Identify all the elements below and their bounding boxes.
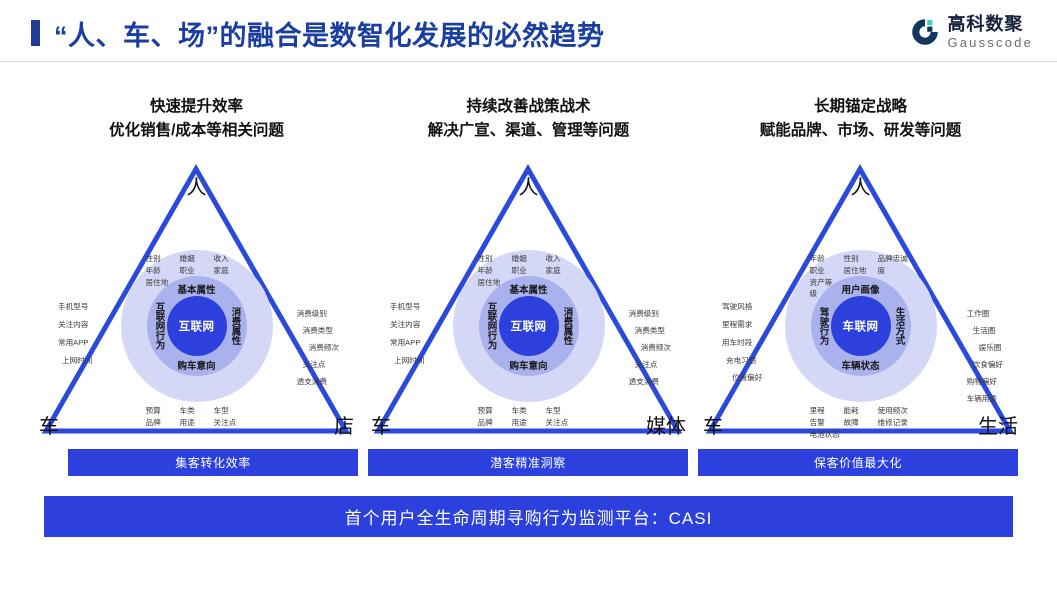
- attr-group-right-2: 消费级别消费类型消费频次关注点透支消费: [629, 305, 671, 390]
- brand-logo: 高科数聚 Gausscode: [910, 12, 1033, 52]
- attr-item: 工作圈: [967, 305, 1003, 322]
- caption-bar-2: 潜客精准洞察: [368, 449, 688, 476]
- attr-item: 品牌: [146, 417, 180, 429]
- ring-mid-label-right-2: 消费属性: [560, 307, 574, 345]
- attr-row: 居住地: [146, 277, 248, 289]
- attr-item: 收入: [214, 253, 248, 265]
- column-1-heading-line1: 快速提升效率: [38, 95, 355, 119]
- attr-row: 年龄职业家庭: [146, 265, 248, 277]
- ring-mid-label-left-3: 驾驶行为: [816, 307, 830, 345]
- ring-core-3: 车联网: [831, 296, 891, 356]
- attr-item: 关注点: [629, 356, 671, 373]
- triangle-1-corner-left: 车: [39, 410, 59, 439]
- attr-item: 职业: [512, 265, 546, 277]
- attr-item: 车类: [180, 405, 214, 417]
- attr-item: 告警: [810, 417, 844, 429]
- column-1-heading: 快速提升效率 优化销售/成本等相关问题: [38, 95, 355, 143]
- attr-group-top-2: 性别婚姻收入年龄职业家庭居住地: [478, 253, 580, 288]
- attr-item: 居住地: [844, 265, 878, 277]
- attr-group-left-2: 手机型号关注内容常用APP上网时间: [390, 298, 424, 369]
- attr-item: 婚姻: [512, 253, 546, 265]
- column-2-heading-line1: 持续改善战策战术: [370, 95, 687, 119]
- attr-item: 用途: [512, 417, 546, 429]
- attr-item: 里程: [810, 405, 844, 417]
- attr-group-right-1: 消费级别消费类型消费频次关注点透支消费: [297, 305, 339, 390]
- attr-item: 关注内容: [390, 316, 424, 334]
- attr-item: 居住地: [478, 277, 512, 289]
- attr-item: 消费频次: [297, 339, 339, 356]
- ring-core-label-1: 互联网: [179, 318, 215, 334]
- caption-bar-2-label: 潜客精准洞察: [490, 454, 566, 471]
- caption-bar-1-label: 集客转化效率: [175, 454, 251, 471]
- attr-item: 性别: [146, 253, 180, 265]
- attr-item: 车型: [214, 405, 248, 417]
- attr-row: 预算车类车型: [478, 405, 580, 417]
- column-3-heading-line1: 长期锚定战略: [702, 95, 1019, 119]
- attr-row: 性别婚姻收入: [478, 253, 580, 265]
- attr-group-left-3: 驾驶风格里程需求用车时段充电习惯位置偏好: [722, 298, 762, 387]
- triangle-2-corner-left: 车: [371, 410, 391, 439]
- attr-item: 关注点: [214, 417, 248, 429]
- attr-item: 消费级别: [629, 305, 671, 322]
- attr-item: 维修记录: [878, 417, 912, 429]
- attr-item: 消费类型: [297, 322, 339, 339]
- attr-row: 资产等: [810, 277, 912, 289]
- attr-item: 家庭: [546, 265, 580, 277]
- attr-item: 预算: [146, 405, 180, 417]
- attr-item: 车型: [546, 405, 580, 417]
- attr-item: 使用频次: [878, 405, 912, 417]
- page-header: “人、车、场”的融合是数智化发展的必然趋势 高科数聚 Gausscode: [0, 0, 1057, 62]
- attr-group-bottom-1: 预算车类车型品牌用途关注点: [146, 405, 248, 429]
- attr-item: 品牌忠诚: [878, 253, 912, 265]
- ring-mid-label-bottom-3: 车辆状态: [841, 358, 879, 372]
- column-1: 快速提升效率 优化销售/成本等相关问题 人 车 店 互联网 互联网 基本属性 购…: [38, 95, 355, 443]
- attr-row: 职业居住地度: [810, 265, 912, 277]
- attr-item: 度: [878, 265, 912, 277]
- triangle-diagram-2: 人 车 媒体 互联网 互联网 基本属性 购车意向 互联网行为 消费属性 性别婚姻…: [370, 153, 687, 443]
- attr-item: 居住地: [146, 277, 180, 289]
- column-1-heading-line2: 优化销售/成本等相关问题: [38, 119, 355, 143]
- attr-item: 娱乐圈: [967, 339, 1003, 356]
- ring-mid-label-right-3: 生活方式: [892, 307, 906, 345]
- logo-name-en: Gausscode: [947, 36, 1033, 49]
- column-2-heading-line2: 解决广宣、渠道、管理等问题: [370, 119, 687, 143]
- attr-item: 消费频次: [629, 339, 671, 356]
- attr-item: 里程需求: [722, 316, 762, 334]
- triangle-diagram-1: 人 车 店 互联网 互联网 基本属性 购车意向 互联网行为 消费属性 性别婚姻收…: [38, 153, 355, 443]
- attr-item: 手机型号: [390, 298, 424, 316]
- attr-item: 透支消费: [297, 373, 339, 390]
- attr-item: 手机型号: [58, 298, 92, 316]
- column-2: 持续改善战策战术 解决广宣、渠道、管理等问题 人 车 媒体 互联网 互联网 基本…: [370, 95, 687, 443]
- attr-item: 消费类型: [629, 322, 671, 339]
- attr-row: 年龄性别品牌忠诚: [810, 253, 912, 265]
- attr-item: 预算: [478, 405, 512, 417]
- attr-row: 告警故障维修记录: [810, 417, 912, 429]
- attr-item: 年龄: [478, 265, 512, 277]
- caption-bar-3: 保客价值最大化: [698, 449, 1018, 476]
- attr-item: 消费级别: [297, 305, 339, 322]
- column-2-heading: 持续改善战策战术 解决广宣、渠道、管理等问题: [370, 95, 687, 143]
- attr-item: 品牌: [478, 417, 512, 429]
- attr-item: 婚姻: [180, 253, 214, 265]
- attr-row: 年龄职业家庭: [478, 265, 580, 277]
- attr-row: 品牌用途关注点: [478, 417, 580, 429]
- attr-item: 驾驶风格: [722, 298, 762, 316]
- header-divider: [0, 61, 1057, 62]
- column-3-heading-line2: 赋能品牌、市场、研发等问题: [702, 119, 1019, 143]
- ring-mid-label-right-1: 消费属性: [228, 307, 242, 345]
- attr-item: 车类: [512, 405, 546, 417]
- attr-row: 电池状态: [810, 429, 912, 441]
- triangle-3-corner-top: 人: [851, 171, 871, 200]
- triangle-diagram-3: 人 车 生活 车联网 车联网 用户画像 车辆状态 驾驶行为 生活方式 年龄性别品…: [702, 153, 1019, 443]
- attr-item: 级: [810, 288, 844, 300]
- attr-group-top-1: 性别婚姻收入年龄职业家庭居住地: [146, 253, 248, 288]
- page-title: “人、车、场”的融合是数智化发展的必然趋势: [54, 14, 605, 53]
- attr-item: 常用APP: [58, 334, 92, 352]
- triangle-1-corner-top: 人: [187, 171, 207, 200]
- attr-row: 预算车类车型: [146, 405, 248, 417]
- caption-bar-3-label: 保客价值最大化: [814, 454, 902, 471]
- attr-item: 年龄: [810, 253, 844, 265]
- attr-item: 用车时段: [722, 334, 762, 352]
- triangle-3-corner-left: 车: [703, 410, 723, 439]
- attr-group-top-3: 年龄性别品牌忠诚职业居住地度资产等级: [810, 253, 912, 300]
- triangle-2-corner-right: 媒体: [646, 410, 686, 439]
- attr-item: 能耗: [844, 405, 878, 417]
- platform-footer-label: 首个用户全生命周期寻购行为监测平台：CASI: [345, 504, 713, 529]
- attr-row: 级: [810, 288, 912, 300]
- attr-item: 上网时间: [390, 352, 424, 370]
- attr-item: 关注点: [546, 417, 580, 429]
- attr-row: 里程能耗使用频次: [810, 405, 912, 417]
- column-3-heading: 长期锚定战略 赋能品牌、市场、研发等问题: [702, 95, 1019, 143]
- attr-group-bottom-3: 里程能耗使用频次告警故障维修记录电池状态: [810, 405, 912, 440]
- attr-item: 购物偏好: [967, 373, 1003, 390]
- attr-item: 关注点: [297, 356, 339, 373]
- attr-item: 资产等: [810, 277, 844, 289]
- attr-item: 充电习惯: [722, 352, 762, 370]
- attr-item: 年龄: [146, 265, 180, 277]
- logo-name-cn: 高科数聚: [947, 15, 1033, 33]
- attr-item: 性别: [478, 253, 512, 265]
- ring-core-1: 互联网: [167, 296, 227, 356]
- gausscode-logo-icon: [910, 17, 940, 47]
- attr-item: 用途: [180, 417, 214, 429]
- attr-item: 家庭: [214, 265, 248, 277]
- attr-group-right-3: 工作圈生活圈娱乐圈饮食偏好购物偏好车辆用途: [967, 305, 1003, 407]
- ring-mid-label-left-2: 互联网行为: [484, 302, 498, 350]
- attr-row: 居住地: [478, 277, 580, 289]
- attr-item: 故障: [844, 417, 878, 429]
- attr-item: 车辆用途: [967, 390, 1003, 407]
- attr-item: 性别: [844, 253, 878, 265]
- attr-item: 职业: [180, 265, 214, 277]
- attr-item: 职业: [810, 265, 844, 277]
- attr-item: 饮食偏好: [967, 356, 1003, 373]
- ring-core-label-3: 车联网: [843, 318, 879, 334]
- attr-group-bottom-2: 预算车类车型品牌用途关注点: [478, 405, 580, 429]
- triangle-2-corner-top: 人: [519, 171, 539, 200]
- attr-group-left-1: 手机型号关注内容常用APP上网时间: [58, 298, 92, 369]
- attr-item: 生活圈: [967, 322, 1003, 339]
- triangle-3-corner-right: 生活: [978, 410, 1018, 439]
- ring-mid-label-left-1: 互联网行为: [152, 302, 166, 350]
- attr-item: 常用APP: [390, 334, 424, 352]
- ring-core-2: 互联网: [499, 296, 559, 356]
- attr-item: 电池状态: [810, 429, 844, 441]
- triangle-1-corner-right: 店: [334, 410, 354, 439]
- attr-row: 品牌用途关注点: [146, 417, 248, 429]
- ring-core-label-2: 互联网: [511, 318, 547, 334]
- ring-mid-label-bottom-2: 购车意向: [509, 358, 547, 372]
- attr-row: 性别婚姻收入: [146, 253, 248, 265]
- attr-item: 位置偏好: [722, 369, 762, 387]
- ring-mid-label-bottom-1: 购车意向: [177, 358, 215, 372]
- attr-item: 上网时间: [58, 352, 92, 370]
- caption-bar-1: 集客转化效率: [68, 449, 358, 476]
- column-3: 长期锚定战略 赋能品牌、市场、研发等问题 人 车 生活 车联网 车联网 用户画像…: [702, 95, 1019, 443]
- platform-footer-bar: 首个用户全生命周期寻购行为监测平台：CASI: [44, 496, 1013, 537]
- attr-item: 关注内容: [58, 316, 92, 334]
- attr-item: 收入: [546, 253, 580, 265]
- attr-item: 透支消费: [629, 373, 671, 390]
- title-bullet-icon: [31, 20, 40, 46]
